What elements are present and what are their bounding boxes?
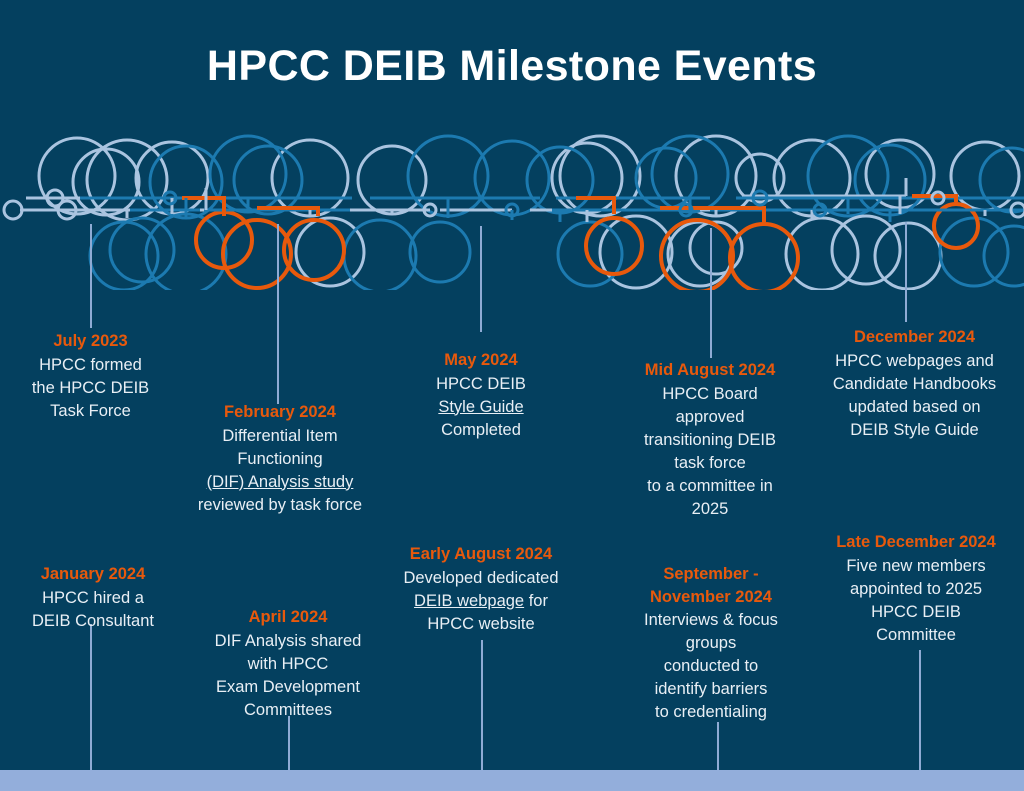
milestone-december-2024[interactable]: December 2024 HPCC webpages andCandidate…: [809, 326, 1020, 442]
milestone-body: HPCC formedthe HPCC DEIBTask Force: [5, 354, 176, 423]
milestone-link[interactable]: DEIB webpage: [414, 592, 524, 610]
milestone-body-line: updated based on: [809, 396, 1020, 419]
milestone-body-line: Task Force: [5, 400, 176, 423]
milestone-body: Developed dedicatedDEIB webpage forHPCC …: [388, 567, 574, 636]
infographic-canvas: HPCC DEIB Milestone Events: [0, 0, 1024, 791]
milestone-body-line: Differential Item: [186, 425, 374, 448]
milestone-body-line: DEIB Consultant: [5, 610, 181, 633]
milestone-february-2024[interactable]: February 2024 Differential ItemFunctioni…: [186, 401, 374, 517]
leader-line-sept-nov-2024: [717, 722, 719, 770]
milestone-body-line: HPCC hired a: [5, 587, 181, 610]
milestone-body: Interviews & focusgroupsconducted toiden…: [625, 609, 797, 724]
milestone-july-2023[interactable]: July 2023 HPCC formedthe HPCC DEIBTask F…: [5, 330, 176, 423]
leader-line-early-august-2024: [481, 640, 483, 770]
milestone-date: Late December 2024: [814, 531, 1018, 554]
milestone-body-line: HPCC webpages and: [809, 350, 1020, 373]
leader-line-december-2024: [905, 222, 907, 322]
milestone-date: Mid August 2024: [621, 359, 799, 382]
milestone-body-line: Interviews & focus: [625, 609, 797, 632]
milestone-date: September - November 2024: [625, 563, 797, 608]
milestone-body: HPCC hired aDEIB Consultant: [5, 587, 181, 633]
leader-line-mid-august-2024: [710, 228, 712, 358]
milestone-date: February 2024: [186, 401, 374, 424]
milestone-body: HPCC DEIBStyle GuideCompleted: [396, 373, 566, 442]
milestone-body-line: Candidate Handbooks: [809, 373, 1020, 396]
milestone-link[interactable]: (DIF) Analysis study: [207, 473, 354, 491]
milestone-body-line: Completed: [396, 419, 566, 442]
milestone-body-line: Committee: [814, 624, 1018, 647]
milestone-body-line: groups: [625, 632, 797, 655]
leader-line-july-2023: [90, 224, 92, 328]
milestone-date: April 2024: [195, 606, 381, 629]
page-title: HPCC DEIB Milestone Events: [0, 40, 1024, 92]
milestone-body-line: DEIB Style Guide: [809, 419, 1020, 442]
decorative-circuit-band: [0, 130, 1024, 290]
milestone-early-august-2024[interactable]: Early August 2024 Developed dedicatedDEI…: [388, 543, 574, 636]
milestone-body-line: 2025: [621, 498, 799, 521]
milestone-body-line: DEIB webpage for: [388, 590, 574, 613]
milestone-body-line: appointed to 2025: [814, 578, 1018, 601]
milestone-body-line: reviewed by task force: [186, 494, 374, 517]
milestone-body-line: Five new members: [814, 555, 1018, 578]
milestone-date: January 2024: [5, 563, 181, 586]
milestone-body-line: identify barriers: [625, 678, 797, 701]
milestone-date: May 2024: [396, 349, 566, 372]
milestone-late-december-2024[interactable]: Late December 2024 Five new membersappoi…: [814, 531, 1018, 647]
leader-line-late-december-2024: [919, 650, 921, 770]
leader-line-january-2024: [90, 624, 92, 770]
milestone-body-line: (DIF) Analysis study: [186, 471, 374, 494]
milestone-body-line: task force: [621, 452, 799, 475]
milestone-body-line: Style Guide: [396, 396, 566, 419]
leader-line-may-2024: [480, 226, 482, 332]
milestone-body-line: DIF Analysis shared: [195, 630, 381, 653]
milestone-body-line: HPCC DEIB: [814, 601, 1018, 624]
milestone-body-line: conducted to: [625, 655, 797, 678]
milestone-body: Differential ItemFunctioning(DIF) Analys…: [186, 425, 374, 517]
milestone-body-line: HPCC formed: [5, 354, 176, 377]
milestone-body-line: to a committee in: [621, 475, 799, 498]
milestone-january-2024[interactable]: January 2024 HPCC hired aDEIB Consultant: [5, 563, 181, 633]
milestone-mid-august-2024[interactable]: Mid August 2024 HPCC Boardapprovedtransi…: [621, 359, 799, 521]
milestone-link[interactable]: Style Guide: [438, 398, 523, 416]
milestone-body-line: HPCC Board: [621, 383, 799, 406]
milestone-body-line: transitioning DEIB: [621, 429, 799, 452]
milestone-body-line: to credentialing: [625, 701, 797, 724]
milestone-date: Early August 2024: [388, 543, 574, 566]
bottom-accent-bar: [0, 770, 1024, 791]
leader-line-april-2024: [288, 716, 290, 770]
milestone-body-line: approved: [621, 406, 799, 429]
milestone-april-2024[interactable]: April 2024 DIF Analysis sharedwith HPCCE…: [195, 606, 381, 722]
milestone-body-line: Committees: [195, 699, 381, 722]
milestone-body-line: Developed dedicated: [388, 567, 574, 590]
milestone-body-line: the HPCC DEIB: [5, 377, 176, 400]
milestone-september-november-2024[interactable]: September - November 2024 Interviews & f…: [625, 563, 797, 724]
milestone-may-2024[interactable]: May 2024 HPCC DEIBStyle GuideCompleted: [396, 349, 566, 442]
milestone-body: HPCC webpages andCandidate Handbooksupda…: [809, 350, 1020, 442]
leader-line-february-2024: [277, 224, 279, 404]
milestone-body-line: Exam Development: [195, 676, 381, 699]
milestone-body-line: HPCC DEIB: [396, 373, 566, 396]
milestone-body-line: with HPCC: [195, 653, 381, 676]
milestone-date: July 2023: [5, 330, 176, 353]
milestone-body: HPCC Boardapprovedtransitioning DEIBtask…: [621, 383, 799, 521]
milestone-body-line: Functioning: [186, 448, 374, 471]
milestone-body: DIF Analysis sharedwith HPCCExam Develop…: [195, 630, 381, 722]
milestone-body: Five new membersappointed to 2025HPCC DE…: [814, 555, 1018, 647]
milestone-date: December 2024: [809, 326, 1020, 349]
milestone-body-line: HPCC website: [388, 613, 574, 636]
